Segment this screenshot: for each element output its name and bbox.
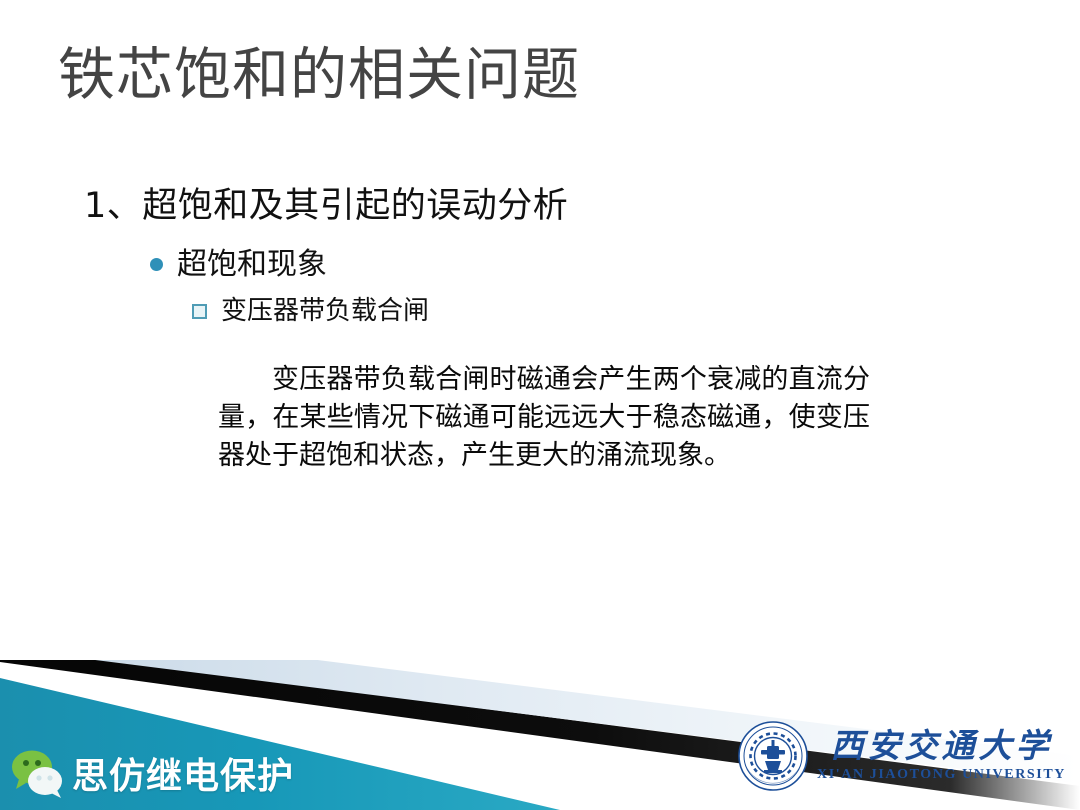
wechat-watermark: 思仿继电保护	[8, 742, 294, 804]
wechat-watermark-label: 思仿继电保护	[72, 747, 294, 799]
outline-level2-item: 超饱和现象	[150, 246, 1080, 284]
university-logo: 西安交通大学 XI'AN JIAOTONG UNIVERSITY	[737, 720, 1066, 792]
page-title: 铁芯饱和的相关问题	[58, 44, 580, 108]
wechat-icon	[8, 746, 68, 800]
outline-level1-item: 1、超饱和及其引起的误动分析	[84, 185, 1080, 229]
slide-body: 1、超饱和及其引起的误动分析 超饱和现象 变压器带负载合闸 变压器带负载合闸时磁…	[0, 185, 1080, 476]
university-name-en: XI'AN JIAOTONG UNIVERSITY	[817, 767, 1066, 783]
xjtu-seal-icon	[737, 720, 809, 792]
bullet-square-icon	[192, 304, 207, 319]
slide: 铁芯饱和的相关问题 1、超饱和及其引起的误动分析 超饱和现象 变压器带负载合闸 …	[0, 0, 1080, 810]
university-name-cn: 西安交通大学	[830, 729, 1052, 762]
bullet-circle-icon	[150, 258, 163, 271]
outline-level2-label: 超饱和现象	[177, 246, 327, 284]
outline-level3-item: 变压器带负载合闸	[192, 295, 1080, 328]
outline-level1-label: 1、超饱和及其引起的误动分析	[84, 186, 568, 226]
outline-level3-label: 变压器带负载合闸	[221, 295, 429, 328]
body-paragraph: 变压器带负载合闸时磁通会产生两个衰减的直流分量，在某些情况下磁通可能远远大于稳态…	[218, 361, 870, 476]
university-names: 西安交通大学 XI'AN JIAOTONG UNIVERSITY	[817, 729, 1066, 783]
